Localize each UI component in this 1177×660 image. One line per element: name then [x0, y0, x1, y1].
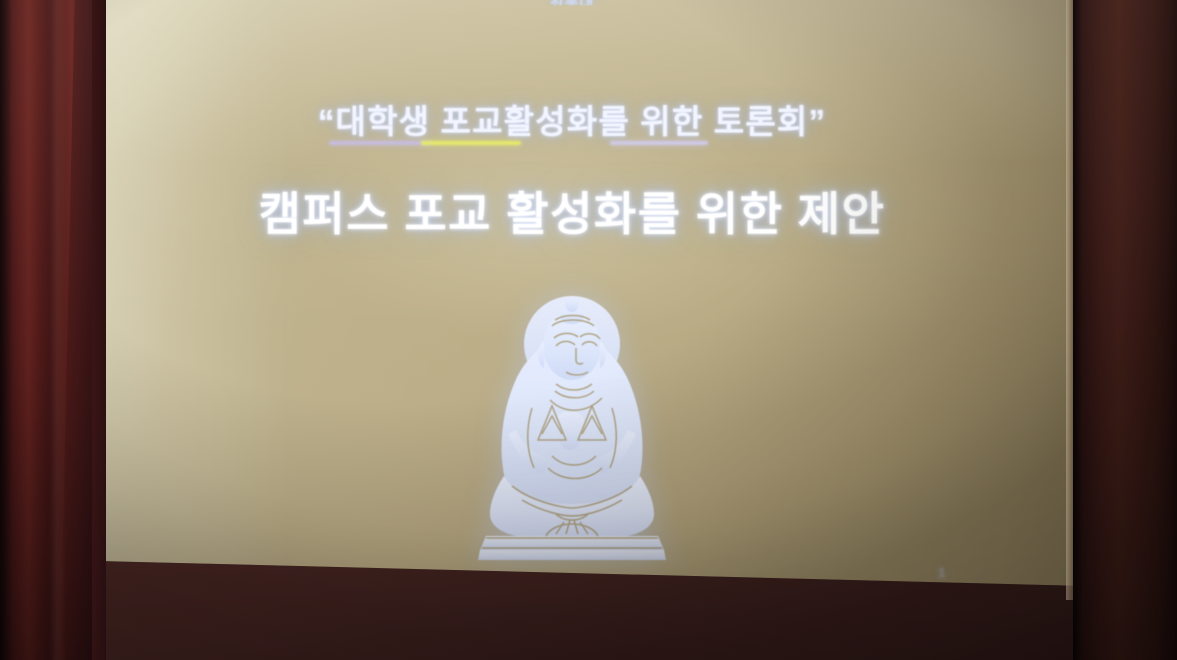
buddha-topknot [565, 296, 579, 312]
slide-cutoff-header: 최동대 [66, 0, 1078, 5]
buddha-svg [460, 288, 684, 568]
projected-slide: 최동대 “대학생 포교활성화를 위한 토론회” 캠퍼스 포교 활성화를 위한 제… [66, 0, 1078, 600]
underline-segment-yellow [421, 141, 521, 145]
underline-segment-lavender-left [329, 141, 432, 145]
slide-underline-group [66, 141, 1078, 151]
slide-page-number: 1 [938, 565, 945, 580]
slide-quoted-subtitle: “대학생 포교활성화를 위한 토론회” [66, 95, 1078, 143]
curtain-left [0, 0, 92, 660]
curtain-right [1073, 0, 1177, 660]
slide-main-title: 캠퍼스 포교 활성화를 위한 제안 [66, 178, 1078, 244]
seated-buddha-illustration [460, 288, 684, 568]
underline-segment-lavender-right [610, 141, 708, 145]
pedestal-base [478, 550, 666, 560]
auditorium-photo-scene: 최동대 “대학생 포교활성화를 위한 토론회” 캠퍼스 포교 활성화를 위한 제… [0, 0, 1177, 660]
